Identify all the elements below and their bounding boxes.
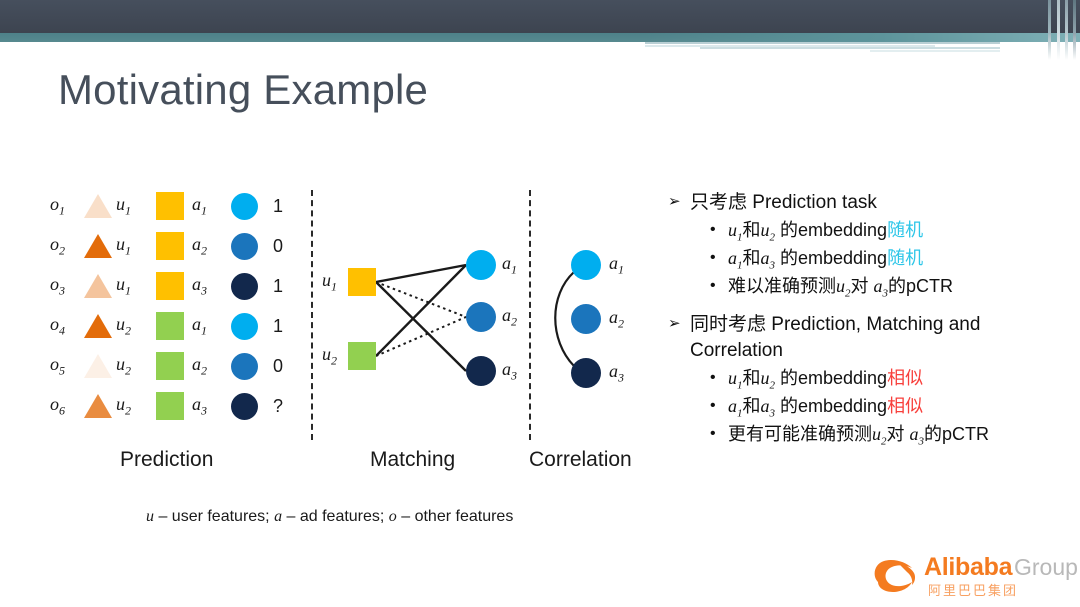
- row-user-label: u1: [116, 234, 148, 259]
- inline-variable: u1: [728, 368, 743, 388]
- banner-line-4: [870, 50, 1000, 52]
- inline-text: 和: [743, 368, 761, 388]
- row-ad-label: a3: [192, 394, 224, 419]
- other-feature-triangle-cell: [80, 274, 116, 298]
- table-row: o2u1a20: [50, 226, 300, 266]
- inline-text: 难以准确预测: [728, 276, 836, 296]
- circle-icon: [231, 193, 258, 220]
- sub-bullet-text: a1和a3 的embedding相似: [728, 394, 1070, 422]
- inline-variable: u2: [836, 276, 851, 296]
- banner-dark-band: [0, 0, 1080, 33]
- other-feature-triangle-cell: [80, 354, 116, 378]
- table-row: o3u1a31: [50, 266, 300, 306]
- ad-feature-circle-cell: [224, 193, 264, 220]
- highlight-term: 随机: [887, 248, 923, 268]
- inline-text: 对: [887, 424, 910, 444]
- row-ad-label: a1: [192, 314, 224, 339]
- row-other-feature-label: o1: [50, 194, 80, 219]
- matching-node-label-a2: a2: [502, 305, 517, 330]
- correlation-node-a1: [571, 250, 601, 280]
- dot-bullet-icon: •: [710, 218, 728, 242]
- dot-bullet-icon: •: [710, 274, 728, 298]
- inline-text: 和: [743, 248, 761, 268]
- sub-bullet-text: u1和u2 的embedding随机: [728, 218, 1070, 246]
- inline-text: 的embedding: [775, 368, 887, 388]
- legend-var-u: u: [146, 508, 154, 525]
- inline-text: 的embedding: [775, 220, 887, 240]
- other-feature-triangle-cell: [80, 194, 116, 218]
- row-ad-label: a3: [192, 274, 224, 299]
- ad-feature-circle-cell: [224, 273, 264, 300]
- row-user-label: u1: [116, 274, 148, 299]
- inline-variable: u2: [872, 424, 887, 444]
- row-click-value: 1: [264, 316, 292, 337]
- bullet-heading-text: 只考虑 Prediction task: [690, 190, 1070, 216]
- legend-note: u – user features; a – ad features; o – …: [146, 508, 513, 526]
- highlight-term: 相似: [887, 396, 923, 416]
- arrow-bullet-icon: ➢: [668, 190, 690, 212]
- inline-text: 的embedding: [775, 248, 887, 268]
- section-label-correlation: Correlation: [529, 448, 632, 472]
- row-user-label: u2: [116, 394, 148, 419]
- matching-node-label-a1: a1: [502, 253, 517, 278]
- sub-bullet-item: •更有可能准确预测u2对 a3的pCTR: [710, 422, 1070, 450]
- top-decorative-banner: [0, 0, 1080, 60]
- bullet-group-1: ➢只考虑 Prediction task•u1和u2 的embedding随机•…: [668, 190, 1070, 302]
- matching-node-a1: [466, 250, 496, 280]
- row-user-label: u2: [116, 314, 148, 339]
- correlation-node-a2: [571, 304, 601, 334]
- square-icon: [156, 192, 184, 220]
- inline-variable: u1: [728, 220, 743, 240]
- highlight-term: 相似: [887, 368, 923, 388]
- logo-chinese-text: 阿里巴巴集团: [928, 580, 1018, 599]
- sub-bullet-item: •难以准确预测u2对 a3的pCTR: [710, 274, 1070, 302]
- highlight-term: 随机: [887, 220, 923, 240]
- dot-bullet-icon: •: [710, 394, 728, 418]
- other-feature-triangle-cell: [80, 314, 116, 338]
- other-feature-triangle-cell: [80, 234, 116, 258]
- bullet-heading-2: ➢同时考虑 Prediction, Matching and Correlati…: [668, 312, 1070, 363]
- ad-feature-circle-cell: [224, 393, 264, 420]
- inline-text: 和: [743, 396, 761, 416]
- circle-icon: [231, 233, 258, 260]
- matching-node-u2: [348, 342, 376, 370]
- banner-line-3: [700, 47, 1000, 49]
- bullet-heading-text: 同时考虑 Prediction, Matching and Correlatio…: [690, 312, 1070, 363]
- banner-stripe-1: [1048, 0, 1051, 60]
- legend-desc-u: – user features;: [154, 508, 274, 525]
- sub-bullet-item: •a1和a3 的embedding相似: [710, 394, 1070, 422]
- table-row: o6u2a3?: [50, 386, 300, 426]
- sub-bullet-list-2: •u1和u2 的embedding相似•a1和a3 的embedding相似•更…: [710, 366, 1070, 451]
- legend-var-a: a: [274, 508, 282, 525]
- matching-node-a3: [466, 356, 496, 386]
- square-icon: [156, 352, 184, 380]
- row-other-feature-label: o6: [50, 394, 80, 419]
- dot-bullet-icon: •: [710, 246, 728, 270]
- matching-node-a2: [466, 302, 496, 332]
- banner-stripe-3: [1065, 0, 1068, 60]
- correlation-node-label-a1: a1: [609, 253, 624, 278]
- circle-icon: [231, 393, 258, 420]
- other-feature-triangle-cell: [80, 394, 116, 418]
- banner-stripe-4: [1073, 0, 1076, 60]
- user-feature-square-cell: [148, 312, 192, 340]
- row-ad-label: a2: [192, 234, 224, 259]
- logo-group-word: Group: [1014, 554, 1078, 581]
- dashed-divider-right: [529, 190, 531, 440]
- banner-stripe-2: [1057, 0, 1060, 60]
- correlation-node-label-a3: a3: [609, 361, 624, 386]
- explanation-panel: ➢只考虑 Prediction task•u1和u2 的embedding随机•…: [668, 190, 1070, 460]
- user-feature-square-cell: [148, 232, 192, 260]
- inline-text: 对: [851, 276, 874, 296]
- matching-edge-u2-a2: [376, 317, 466, 356]
- legend-desc-o: – other features: [397, 508, 514, 525]
- square-icon: [156, 312, 184, 340]
- dashed-divider-left: [311, 190, 313, 440]
- triangle-icon: [84, 314, 112, 338]
- triangle-icon: [84, 194, 112, 218]
- alibaba-group-logo: Alibaba Group 阿里巴巴集团: [868, 552, 1073, 600]
- inline-text: 的pCTR: [888, 276, 953, 296]
- correlation-node-label-a2: a2: [609, 307, 624, 332]
- ad-feature-circle-cell: [224, 353, 264, 380]
- matching-node-label-u2: u2: [322, 344, 337, 369]
- section-label-matching: Matching: [370, 448, 455, 472]
- row-click-value: 1: [264, 196, 292, 217]
- inline-variable: a1: [728, 396, 743, 416]
- page-title: Motivating Example: [58, 66, 428, 114]
- matching-node-label-a3: a3: [502, 359, 517, 384]
- circle-icon: [231, 353, 258, 380]
- ad-feature-circle-cell: [224, 233, 264, 260]
- logo-wordmark: Alibaba: [924, 553, 1012, 582]
- triangle-icon: [84, 274, 112, 298]
- triangle-icon: [84, 354, 112, 378]
- user-feature-square-cell: [148, 392, 192, 420]
- sub-bullet-item: •u1和u2 的embedding随机: [710, 218, 1070, 246]
- table-row: o5u2a20: [50, 346, 300, 386]
- correlation-node-a3: [571, 358, 601, 388]
- ad-feature-circle-cell: [224, 313, 264, 340]
- dot-bullet-icon: •: [710, 422, 728, 446]
- row-click-value: ?: [264, 396, 292, 417]
- sub-bullet-text: a1和a3 的embedding随机: [728, 246, 1070, 274]
- row-other-feature-label: o5: [50, 354, 80, 379]
- sub-bullet-item: •u1和u2 的embedding相似: [710, 366, 1070, 394]
- prediction-table: o1u1a11o2u1a20o3u1a31o4u2a11o5u2a20o6u2a…: [50, 186, 300, 431]
- inline-variable: u2: [761, 220, 776, 240]
- circle-icon: [231, 273, 258, 300]
- inline-text: 的embedding: [775, 396, 887, 416]
- inline-variable: a3: [910, 424, 925, 444]
- triangle-icon: [84, 234, 112, 258]
- matching-node-u1: [348, 268, 376, 296]
- sub-bullet-text: 更有可能准确预测u2对 a3的pCTR: [728, 422, 1070, 450]
- inline-variable: a3: [761, 248, 776, 268]
- row-click-value: 0: [264, 236, 292, 257]
- bullet-group-2: ➢同时考虑 Prediction, Matching and Correlati…: [668, 312, 1070, 450]
- inline-variable: a1: [728, 248, 743, 268]
- matching-edge-u1-a3: [376, 282, 466, 371]
- inline-variable: a3: [761, 396, 776, 416]
- row-click-value: 0: [264, 356, 292, 377]
- inline-text: 和: [743, 220, 761, 240]
- bullet-heading-1: ➢只考虑 Prediction task: [668, 190, 1070, 216]
- dot-bullet-icon: •: [710, 366, 728, 390]
- correlation-graph: a1a2a3: [545, 240, 655, 400]
- banner-line-1: [645, 42, 1000, 44]
- legend-desc-a: – ad features;: [282, 508, 389, 525]
- square-icon: [156, 272, 184, 300]
- matching-node-label-u1: u1: [322, 270, 337, 295]
- matching-bipartite-graph: u1u2a1a2a3: [318, 236, 518, 396]
- sub-bullet-item: •a1和a3 的embedding随机: [710, 246, 1070, 274]
- arrow-bullet-icon: ➢: [668, 312, 690, 334]
- square-icon: [156, 392, 184, 420]
- inline-variable: u2: [761, 368, 776, 388]
- sub-bullet-list-1: •u1和u2 的embedding随机•a1和a3 的embedding随机•难…: [710, 218, 1070, 303]
- table-row: o1u1a11: [50, 186, 300, 226]
- user-feature-square-cell: [148, 192, 192, 220]
- row-ad-label: a1: [192, 194, 224, 219]
- row-other-feature-label: o2: [50, 234, 80, 259]
- user-feature-square-cell: [148, 352, 192, 380]
- table-row: o4u2a11: [50, 306, 300, 346]
- inline-variable: a3: [874, 276, 889, 296]
- user-feature-square-cell: [148, 272, 192, 300]
- sub-bullet-text: u1和u2 的embedding相似: [728, 366, 1070, 394]
- triangle-icon: [84, 394, 112, 418]
- banner-teal-fade: [640, 33, 1080, 42]
- row-other-feature-label: o4: [50, 314, 80, 339]
- inline-text: 更有可能准确预测: [728, 424, 872, 444]
- row-other-feature-label: o3: [50, 274, 80, 299]
- circle-icon: [231, 313, 258, 340]
- row-ad-label: a2: [192, 354, 224, 379]
- sub-bullet-text: 难以准确预测u2对 a3的pCTR: [728, 274, 1070, 302]
- row-user-label: u2: [116, 354, 148, 379]
- inline-text: 的pCTR: [924, 424, 989, 444]
- section-label-prediction: Prediction: [120, 448, 213, 472]
- square-icon: [156, 232, 184, 260]
- row-user-label: u1: [116, 194, 148, 219]
- legend-var-o: o: [389, 508, 397, 525]
- row-click-value: 1: [264, 276, 292, 297]
